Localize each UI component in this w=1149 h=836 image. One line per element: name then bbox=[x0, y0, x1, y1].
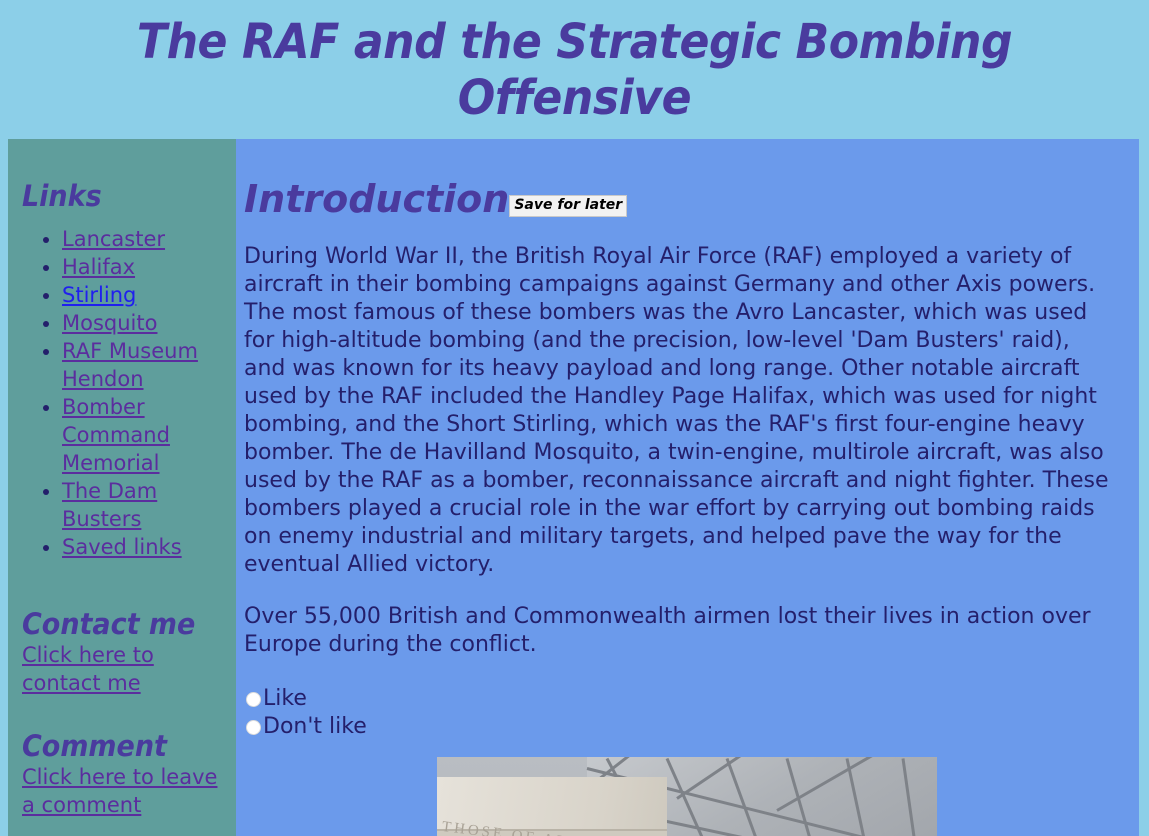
list-item: Halifax bbox=[62, 253, 222, 281]
rating-label-like: Like bbox=[263, 686, 307, 712]
sidebar: Links Lancaster Halifax Stirling Mosquit… bbox=[8, 139, 236, 836]
list-item: Lancaster bbox=[62, 225, 222, 253]
sidebar-link-raf-museum-hendon[interactable]: RAF Museum Hendon bbox=[62, 339, 198, 391]
list-item: Mosquito bbox=[62, 309, 222, 337]
sidebar-link-stirling[interactable]: Stirling bbox=[62, 283, 136, 307]
rating-label-dont-like: Don't like bbox=[263, 714, 367, 740]
memorial-photo-image: THOSE OF ALL NATIONS WHO LIVES bbox=[437, 757, 937, 836]
sidebar-link-halifax[interactable]: Halifax bbox=[62, 255, 135, 279]
memorial-photo: THOSE OF ALL NATIONS WHO LIVES bbox=[437, 757, 937, 836]
list-item: Stirling bbox=[62, 281, 222, 309]
radio-button-like[interactable] bbox=[246, 692, 261, 707]
sidebar-link-lancaster[interactable]: Lancaster bbox=[62, 227, 165, 251]
sidebar-contact-heading: Contact me bbox=[22, 561, 208, 639]
leave-comment-link[interactable]: Click here to leave a comment bbox=[22, 765, 217, 817]
radio-button-dont-like[interactable] bbox=[246, 720, 261, 735]
sidebar-link-saved-links[interactable]: Saved links bbox=[62, 535, 182, 559]
sidebar-comment-heading: Comment bbox=[22, 697, 208, 761]
sidebar-link-the-dam-busters[interactable]: The Dam Busters bbox=[62, 479, 157, 531]
sidebar-link-list: Lancaster Halifax Stirling Mosquito RAF … bbox=[22, 225, 222, 561]
sidebar-links-heading: Links bbox=[22, 139, 208, 211]
rating-option-dont-like[interactable]: Don't like bbox=[244, 713, 1119, 741]
comment-link-wrap: Click here to leave a comment bbox=[22, 763, 222, 819]
main-content: IntroductionSave for later During World … bbox=[236, 139, 1139, 836]
page-root: The RAF and the Strategic Bombing Offens… bbox=[0, 0, 1149, 836]
rating-option-like[interactable]: Like bbox=[244, 685, 1119, 713]
contact-link-wrap: Click here to contact me bbox=[22, 641, 222, 697]
page-title: Introduction bbox=[244, 177, 509, 221]
rating-radio-group: Like Don't like bbox=[244, 685, 1119, 741]
site-title: The RAF and the Strategic Bombing Offens… bbox=[46, 0, 1103, 126]
body-columns: Links Lancaster Halifax Stirling Mosquit… bbox=[0, 139, 1149, 836]
introduction-row: IntroductionSave for later bbox=[244, 139, 1119, 221]
list-item: The Dam Busters bbox=[62, 477, 222, 533]
contact-me-link[interactable]: Click here to contact me bbox=[22, 643, 154, 695]
list-item: Bomber Command Memorial bbox=[62, 393, 222, 477]
list-item: Saved links bbox=[62, 533, 222, 561]
introduction-paragraph-2: Over 55,000 British and Commonwealth air… bbox=[244, 579, 1114, 659]
sidebar-link-bomber-command-memorial[interactable]: Bomber Command Memorial bbox=[62, 395, 170, 475]
save-for-later-button[interactable]: Save for later bbox=[509, 195, 627, 217]
sidebar-link-mosquito[interactable]: Mosquito bbox=[62, 311, 157, 335]
introduction-paragraph-1: During World War II, the British Royal A… bbox=[244, 221, 1114, 579]
list-item: RAF Museum Hendon bbox=[62, 337, 222, 393]
site-banner: The RAF and the Strategic Bombing Offens… bbox=[0, 0, 1149, 139]
